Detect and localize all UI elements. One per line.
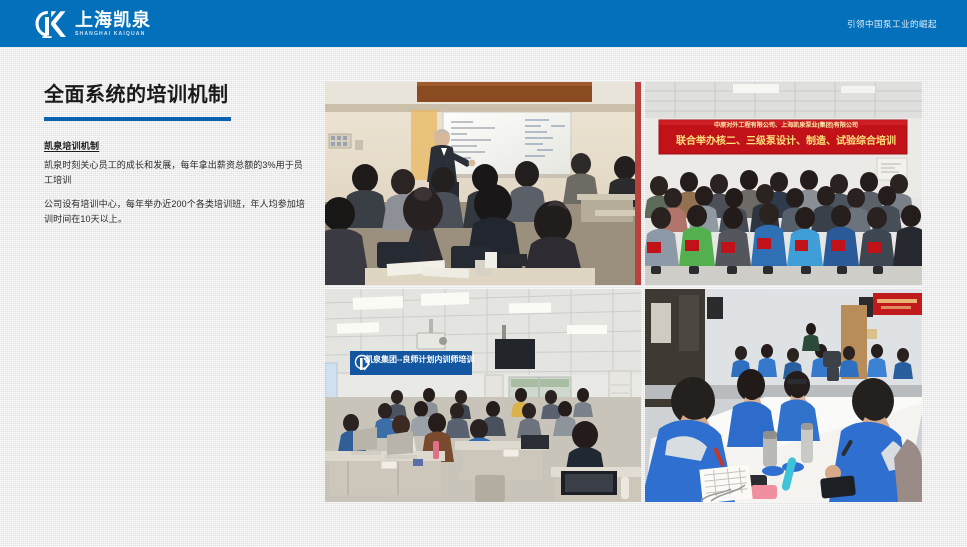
header-slogan: 引领中国泵工业的崛起 xyxy=(847,18,937,30)
slide: 上海凯泉 SHANGHAI KAIQUAN 引领中国泵工业的崛起 全面系统的培训… xyxy=(0,0,967,547)
section-subheading: 凯泉培训机制 xyxy=(44,139,306,152)
banner-text: 凯泉集团--良师计划内训师培训 xyxy=(365,354,470,365)
page-header: 上海凯泉 SHANGHAI KAIQUAN 引领中国泵工业的崛起 xyxy=(0,0,967,47)
brand-name-cn: 上海凯泉 xyxy=(75,11,151,29)
photo-workshop-discussion: 身着蓝色工装的员工围桌分组讨论 xyxy=(645,289,922,502)
title-underline-rule xyxy=(44,117,231,121)
content-text-column: 全面系统的培训机制 凯泉培训机制 凯泉时刻关心员工的成长和发展，每年拿出薪资总额… xyxy=(44,84,306,226)
brand-name-en: SHANGHAI KAIQUAN xyxy=(75,32,153,37)
banner-line-1: 中原对外工程有限公司、上海凯泉泵业(集团)有限公司 xyxy=(662,120,910,129)
kaiquan-k-emblem-icon xyxy=(34,9,68,39)
photo-computer-training-room: 凯泉集团--良师计划内训师培训 内训师培训课堂，学员在电脑前听课 xyxy=(325,289,641,502)
body-paragraph-1: 凯泉时刻关心员工的成长和发展，每年拿出薪资总额的3%用于员工培训 xyxy=(44,158,306,188)
page-title: 全面系统的培训机制 xyxy=(44,84,306,107)
brand-logo: 上海凯泉 SHANGHAI KAIQUAN xyxy=(34,9,151,39)
body-paragraph-2: 公司设有培训中心，每年举办近200个各类培训班，年人均参加培训时间在10天以上。 xyxy=(44,197,306,227)
banner-line-2: 联合举办核二、三级泵设计、制造、试验综合培训 xyxy=(661,132,911,147)
photo-grid: 讲师在白板前授课，学员背对镜头就座听课 xyxy=(325,82,922,502)
photo-group-certificate: 中原对外工程有限公司、上海凯泉泵业(集团)有限公司 联合举办核二、三级泵设计、制… xyxy=(645,82,922,285)
brand-wordmark: 上海凯泉 SHANGHAI KAIQUAN xyxy=(75,11,151,37)
photo-lecture-classroom: 讲师在白板前授课，学员背对镜头就座听课 xyxy=(325,82,641,285)
